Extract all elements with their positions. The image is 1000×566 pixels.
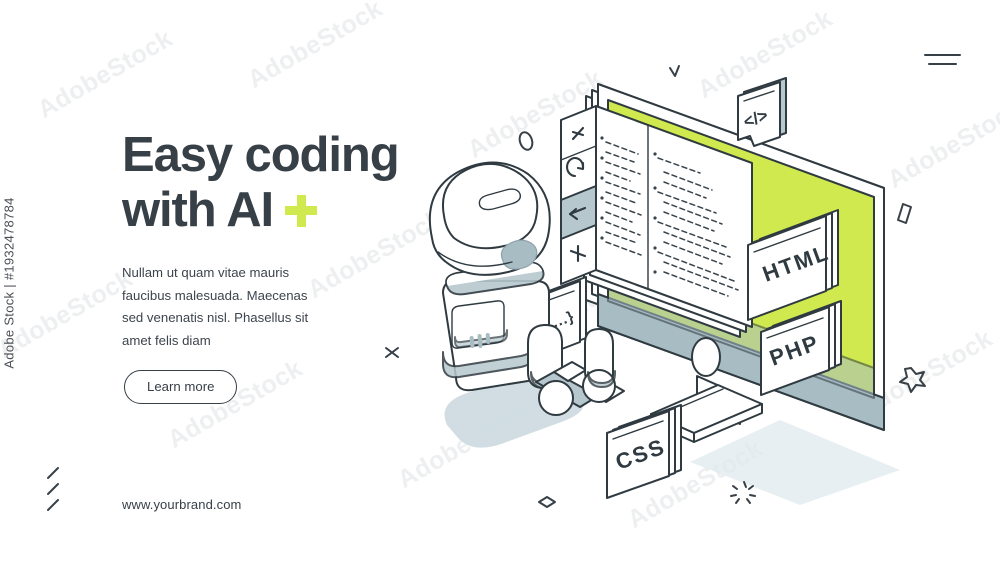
- diamond-doodle: [539, 497, 555, 507]
- oval-doodle: [518, 131, 535, 152]
- isometric-illustration: .ln { fill:none; stroke:#2f3a41; stroke-…: [0, 0, 1000, 566]
- illustration-banner: AdobeStock AdobeStock AdobeStock AdobeSt…: [0, 0, 1000, 566]
- code-bubble: </>: [738, 78, 786, 146]
- star-doodle: [900, 368, 925, 392]
- camera-lens-icon: [692, 338, 720, 376]
- editor-toolbar: [561, 106, 596, 284]
- robot-chest-panel: [452, 301, 507, 348]
- double-line-doodle: [925, 55, 960, 64]
- chevron-doodle: [670, 66, 679, 76]
- robot-hand-left: [539, 381, 573, 415]
- css-card: CSS: [607, 405, 681, 498]
- slashes-doodle: [48, 468, 58, 510]
- rhombus-doodle: [898, 204, 911, 223]
- robot-arm-right: [583, 329, 615, 402]
- cross-doodle: [386, 348, 398, 357]
